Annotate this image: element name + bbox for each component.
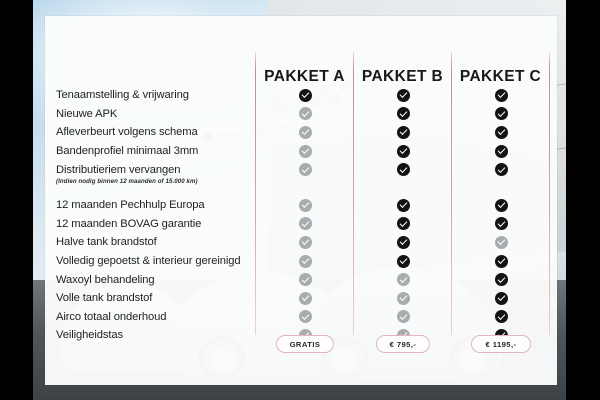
check-included-icon <box>397 255 410 268</box>
check-excluded-icon <box>299 145 312 158</box>
checkmark-cell <box>256 86 354 105</box>
screenshot-stage: VAKGARAGE GIEL PAKKET A PAKKET B PAKKET … <box>0 0 600 400</box>
checkmark-cell <box>256 308 354 327</box>
checkmark-footnote-spacer <box>354 176 452 187</box>
checkmark-column-pakket-b <box>354 86 452 345</box>
check-included-icon <box>397 145 410 158</box>
checkmark-cell <box>256 289 354 308</box>
checkmark-column-pakket-c <box>452 86 550 345</box>
check-included-icon <box>495 107 508 120</box>
price-button-pakket-b[interactable]: € 795,- <box>376 335 431 353</box>
check-included-icon <box>495 292 508 305</box>
check-excluded-icon <box>299 217 312 230</box>
checkmark-cell <box>452 289 550 308</box>
check-included-icon <box>495 89 508 102</box>
checkmark-cell <box>354 215 452 234</box>
check-included-icon <box>495 145 508 158</box>
checkmark-cell <box>354 105 452 124</box>
check-included-icon <box>495 199 508 212</box>
check-included-icon <box>495 163 508 176</box>
checkmark-cell <box>354 196 452 215</box>
feature-label: Volle tank brandstof <box>56 289 288 308</box>
group-spacer <box>452 187 550 196</box>
checkmark-cell <box>256 142 354 161</box>
feature-label: Veiligheidstas <box>56 326 288 345</box>
checkmark-footnote-spacer <box>452 176 550 187</box>
checkmark-column-pakket-a <box>256 86 354 345</box>
checkmark-cell <box>452 196 550 215</box>
feature-label-list: Tenaamstelling & vrijwaringNieuwe APKAfl… <box>56 86 288 345</box>
check-excluded-icon <box>299 199 312 212</box>
checkmark-cell <box>452 233 550 252</box>
checkmark-cell <box>256 215 354 234</box>
feature-label: Nieuwe APK <box>56 105 288 124</box>
check-included-icon <box>495 126 508 139</box>
checkmark-cell <box>256 233 354 252</box>
check-excluded-icon <box>299 292 312 305</box>
check-excluded-icon <box>299 236 312 249</box>
letterbox-bar-left <box>0 0 33 400</box>
price-button-pakket-a[interactable]: GRATIS <box>276 335 335 353</box>
group-spacer <box>256 187 354 196</box>
check-included-icon <box>397 236 410 249</box>
feature-label: Waxoyl behandeling <box>56 270 288 289</box>
feature-label: Volledig gepoetst & interieur gereinigd <box>56 252 288 271</box>
check-excluded-icon <box>299 273 312 286</box>
letterbox-bar-right <box>566 0 600 400</box>
checkmark-cell <box>256 123 354 142</box>
check-included-icon <box>495 255 508 268</box>
check-included-icon <box>299 89 312 102</box>
checkmark-cell <box>256 105 354 124</box>
check-included-icon <box>495 273 508 286</box>
check-excluded-icon <box>397 273 410 286</box>
feature-footnote: (Indien nodig binnen 12 maanden of 15.00… <box>56 176 288 187</box>
checkmark-footnote-spacer <box>256 176 354 187</box>
checkmark-cell <box>452 123 550 142</box>
pricing-grid: PAKKET A PAKKET B PAKKET C Tenaamstellin… <box>45 16 557 385</box>
check-included-icon <box>495 310 508 323</box>
check-excluded-icon <box>299 126 312 139</box>
check-included-icon <box>495 217 508 230</box>
checkmark-cell <box>354 86 452 105</box>
pricing-table-card: PAKKET A PAKKET B PAKKET C Tenaamstellin… <box>45 16 557 385</box>
checkmark-cell <box>354 123 452 142</box>
checkmark-cell <box>256 252 354 271</box>
price-row-pakket-c: € 1195,- <box>452 335 550 353</box>
group-spacer <box>56 187 288 196</box>
feature-label: Bandenprofiel minimaal 3mm <box>56 142 288 161</box>
check-excluded-icon <box>397 310 410 323</box>
check-excluded-icon <box>299 255 312 268</box>
checkmark-cell <box>452 308 550 327</box>
checkmark-cell <box>452 142 550 161</box>
feature-label: Airco totaal onderhoud <box>56 308 288 327</box>
feature-label: 12 maanden BOVAG garantie <box>56 215 288 234</box>
check-excluded-icon <box>397 292 410 305</box>
check-included-icon <box>397 199 410 212</box>
feature-label: Halve tank brandstof <box>56 233 288 252</box>
check-included-icon <box>397 217 410 230</box>
check-excluded-icon <box>299 310 312 323</box>
feature-label: 12 maanden Pechhulp Europa <box>56 196 288 215</box>
check-included-icon <box>397 107 410 120</box>
checkmark-cell <box>354 289 452 308</box>
checkmark-cell <box>256 196 354 215</box>
check-excluded-icon <box>495 236 508 249</box>
checkmark-cell <box>452 105 550 124</box>
group-spacer <box>354 187 452 196</box>
check-included-icon <box>397 126 410 139</box>
checkmark-cell <box>452 86 550 105</box>
checkmark-cell <box>354 142 452 161</box>
check-excluded-icon <box>299 163 312 176</box>
checkmark-cell <box>354 233 452 252</box>
checkmark-cell <box>354 252 452 271</box>
feature-label: Afleverbeurt volgens schema <box>56 123 288 142</box>
check-included-icon <box>397 163 410 176</box>
checkmark-cell <box>452 270 550 289</box>
feature-label: Tenaamstelling & vrijwaring <box>56 86 288 105</box>
checkmark-cell <box>256 270 354 289</box>
checkmark-cell <box>452 215 550 234</box>
checkmark-cell <box>354 270 452 289</box>
price-row-pakket-a: GRATIS <box>256 335 354 353</box>
checkmark-cell <box>354 308 452 327</box>
check-excluded-icon <box>299 107 312 120</box>
checkmark-cell <box>452 252 550 271</box>
check-included-icon <box>397 89 410 102</box>
price-row-pakket-b: € 795,- <box>354 335 452 353</box>
price-button-pakket-c[interactable]: € 1195,- <box>471 335 530 353</box>
